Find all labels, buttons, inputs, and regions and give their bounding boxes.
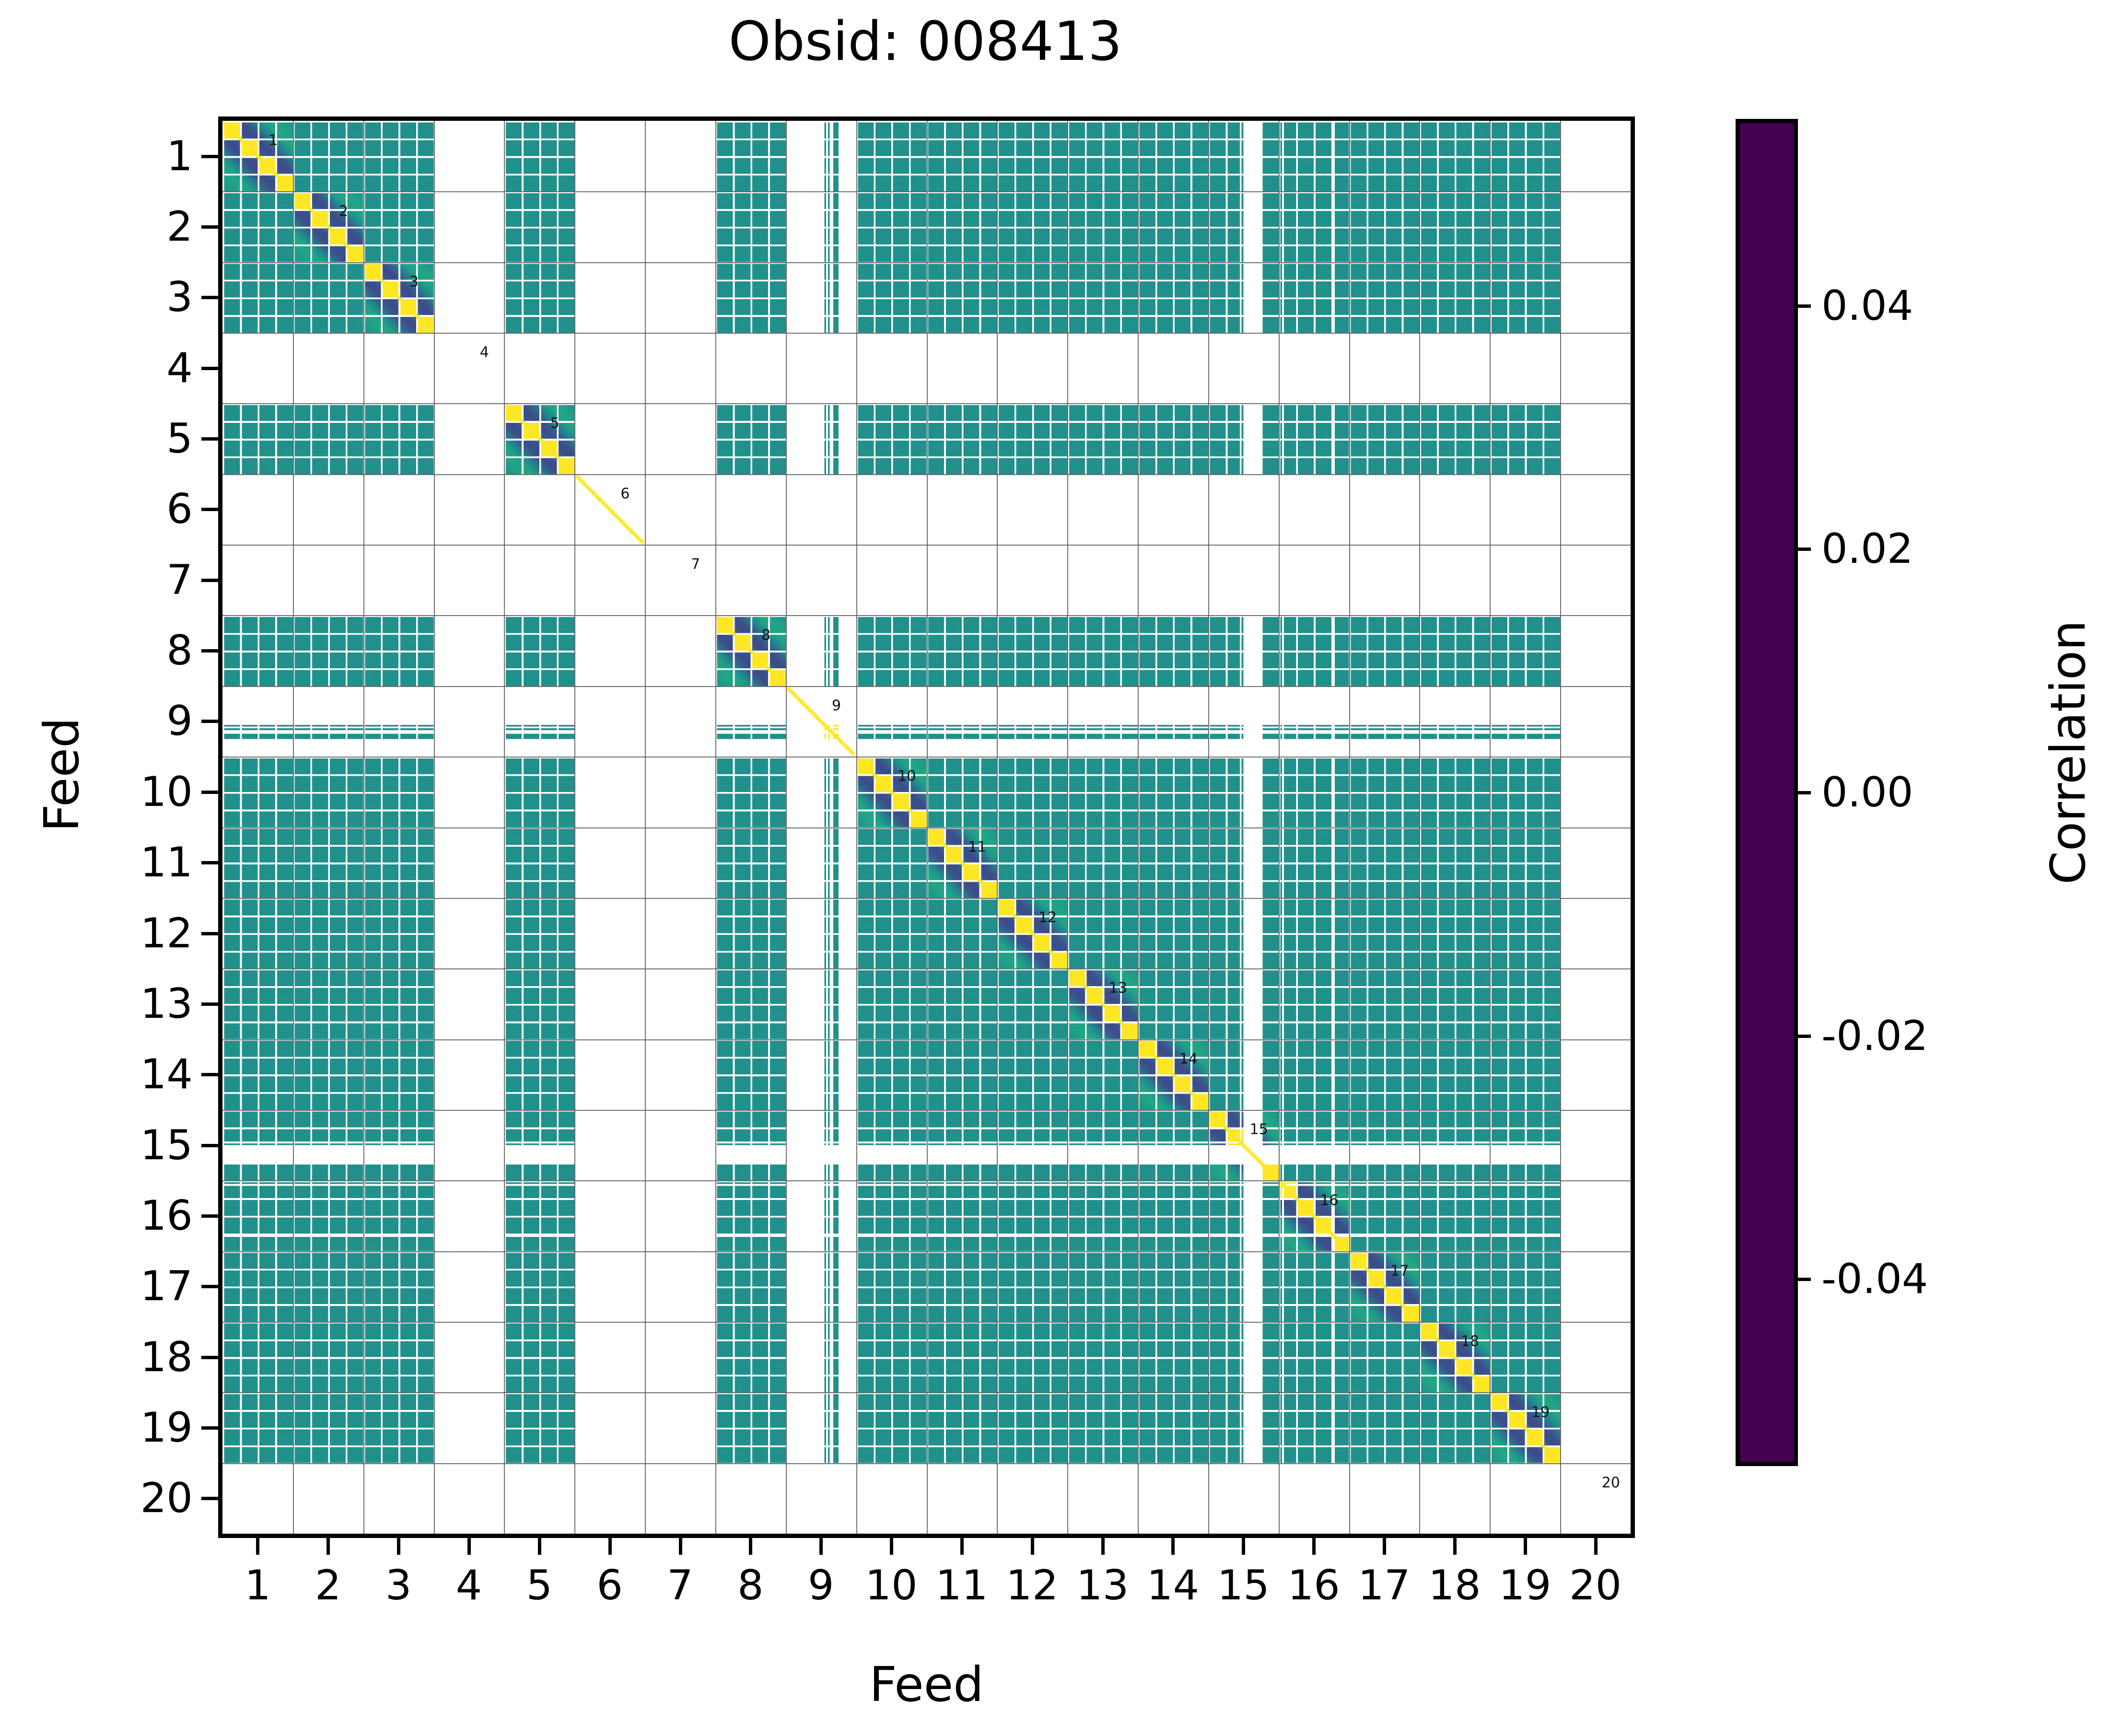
x-axis-tick — [397, 1534, 400, 1555]
colorbar-tick — [1794, 304, 1811, 308]
colorbar-label: Correlation — [2040, 620, 2096, 885]
y-axis-tick — [201, 296, 222, 299]
y-axis-tick-label: 20 — [140, 1474, 193, 1522]
colorbar-tick-label: -0.04 — [1821, 1255, 1928, 1303]
x-axis-tick-label: 7 — [667, 1561, 693, 1609]
x-axis-tick — [1524, 1534, 1527, 1555]
matrix-cell-label: 13 — [1109, 980, 1127, 997]
x-axis-tick-label: 5 — [526, 1561, 552, 1609]
colorbar-tick-label: 0.04 — [1821, 282, 1913, 330]
x-axis-tick — [467, 1534, 471, 1555]
y-axis-tick-label: 9 — [166, 697, 193, 745]
x-axis-tick — [538, 1534, 541, 1555]
figure-canvas: Obsid: 008413 12345678910111213141516171… — [0, 0, 2111, 1736]
colorbar-tick — [1794, 791, 1811, 794]
page-title: Obsid: 008413 — [0, 10, 1851, 74]
colorbar-gradient — [1740, 123, 1794, 1462]
y-axis-tick — [201, 155, 222, 158]
y-axis-tick — [201, 1002, 222, 1006]
matrix-cell-label: 9 — [832, 698, 841, 714]
x-axis-tick-label: 4 — [456, 1561, 482, 1609]
matrix-cell-label: 4 — [480, 344, 489, 361]
x-axis-tick — [1594, 1534, 1598, 1555]
x-axis-tick-label: 3 — [385, 1561, 412, 1609]
x-axis-tick-label: 1 — [245, 1561, 271, 1609]
x-axis-tick-label: 10 — [865, 1561, 917, 1609]
matrix-cell-label: 7 — [691, 556, 700, 573]
y-axis-tick — [201, 720, 222, 723]
y-axis-tick-label: 4 — [166, 344, 193, 392]
heatmap-axes: 1234567891011121314151617181920 11223344… — [218, 117, 1635, 1538]
y-axis-tick — [201, 437, 222, 441]
y-axis-tick — [201, 225, 222, 229]
matrix-cell-label: 15 — [1250, 1121, 1268, 1138]
x-axis-tick-label: 19 — [1499, 1561, 1551, 1609]
y-axis-tick-label: 3 — [166, 273, 193, 321]
colorbar-tick-label: 0.00 — [1821, 769, 1913, 816]
y-axis-tick — [201, 649, 222, 652]
colorbar: 0.040.020.00-0.02-0.04 — [1736, 119, 1798, 1466]
x-axis-tick-label: 15 — [1217, 1561, 1270, 1609]
y-axis-tick-label: 8 — [166, 627, 193, 675]
y-axis-tick-label: 1 — [166, 132, 193, 180]
x-axis-tick-label: 16 — [1287, 1561, 1340, 1609]
y-axis-tick — [201, 1356, 222, 1359]
gridline-vertical — [1490, 121, 1491, 1534]
matrix-cell-label: 14 — [1179, 1050, 1198, 1067]
matrix-cell-label: 17 — [1390, 1262, 1409, 1279]
y-axis-tick-label: 18 — [140, 1333, 193, 1381]
y-axis-label: Feed — [34, 717, 90, 832]
x-axis-tick-label: 13 — [1076, 1561, 1129, 1609]
x-axis-label: Feed — [218, 1656, 1635, 1713]
y-axis-tick — [201, 1073, 222, 1076]
matrix-cell-label: 1 — [268, 132, 278, 149]
x-axis-tick — [1383, 1534, 1386, 1555]
matrix-cell-label: 5 — [550, 415, 560, 431]
matrix-cell-label: 19 — [1531, 1404, 1550, 1421]
x-axis-tick-label: 8 — [737, 1561, 764, 1609]
x-axis-tick-label: 6 — [596, 1561, 623, 1609]
y-axis-tick-label: 7 — [166, 556, 193, 604]
matrix-cell-label: 10 — [898, 768, 916, 785]
y-axis-tick-label: 2 — [166, 203, 193, 251]
y-axis-tick — [201, 579, 222, 582]
y-axis-tick — [201, 1497, 222, 1500]
x-axis-tick-label: 14 — [1147, 1561, 1199, 1609]
x-axis-tick — [1312, 1534, 1316, 1555]
y-axis-tick — [201, 1285, 222, 1288]
x-axis-tick-label: 18 — [1428, 1561, 1481, 1609]
x-axis-tick — [1453, 1534, 1457, 1555]
colorbar-tick-label: -0.02 — [1821, 1012, 1928, 1060]
y-axis-tick-label: 16 — [140, 1192, 193, 1240]
y-axis-tick-label: 11 — [140, 839, 193, 886]
y-axis-tick-label: 6 — [166, 485, 193, 533]
x-axis-tick — [256, 1534, 259, 1555]
colorbar-tick-label: 0.02 — [1821, 525, 1913, 573]
gridline-horizontal — [222, 1322, 1631, 1323]
matrix-cell-label: 11 — [968, 839, 986, 855]
x-axis-tick — [819, 1534, 823, 1555]
colorbar-tick — [1794, 548, 1811, 551]
y-axis-tick — [201, 791, 222, 794]
x-axis-tick-label: 12 — [1006, 1561, 1058, 1609]
y-axis-tick-label: 14 — [140, 1050, 193, 1098]
x-axis-tick-label: 9 — [808, 1561, 834, 1609]
y-axis-tick — [201, 861, 222, 864]
colorbar-tick — [1794, 1278, 1811, 1281]
y-axis-tick-label: 12 — [140, 909, 193, 957]
matrix-cell-label: 8 — [761, 627, 770, 643]
y-axis-tick-label: 19 — [140, 1404, 193, 1452]
gridline-horizontal — [222, 1392, 1631, 1393]
y-axis-tick — [201, 932, 222, 935]
colorbar-tick — [1794, 1035, 1811, 1038]
x-axis-tick — [1101, 1534, 1105, 1555]
x-axis-tick-label: 20 — [1569, 1561, 1621, 1609]
gridline-horizontal — [222, 1463, 1631, 1464]
x-axis-tick — [890, 1534, 893, 1555]
matrix-cell-label: 12 — [1038, 909, 1057, 926]
x-axis-tick — [608, 1534, 612, 1555]
y-axis-tick-label: 10 — [140, 768, 193, 816]
gridline-vertical — [1560, 121, 1561, 1534]
y-axis-tick — [201, 1144, 222, 1147]
matrix-cell-label: 16 — [1320, 1192, 1338, 1209]
matrix-cell-label: 6 — [620, 486, 630, 502]
x-axis-tick — [679, 1534, 682, 1555]
x-axis-tick — [749, 1534, 752, 1555]
x-axis-tick — [1242, 1534, 1245, 1555]
y-axis-tick — [201, 367, 222, 370]
y-axis-tick-label: 13 — [140, 980, 193, 1028]
y-axis-tick-label: 15 — [140, 1121, 193, 1169]
x-axis-tick — [1171, 1534, 1175, 1555]
y-axis-tick — [201, 508, 222, 511]
matrix-cell-label: 20 — [1602, 1474, 1620, 1491]
x-axis-tick — [327, 1534, 330, 1555]
x-axis-tick-label: 2 — [315, 1561, 341, 1609]
y-axis-tick — [201, 1426, 222, 1430]
matrix-cell-label: 18 — [1461, 1333, 1479, 1350]
y-axis-tick — [201, 1214, 222, 1218]
heatmap-plot-area: 1234567891011121314151617181920 — [222, 121, 1631, 1534]
x-axis-tick — [1031, 1534, 1034, 1555]
x-axis-tick-label: 17 — [1358, 1561, 1410, 1609]
matrix-cell-label: 3 — [409, 273, 419, 290]
y-axis-tick-label: 17 — [140, 1262, 193, 1310]
matrix-cell-label: 2 — [339, 203, 348, 220]
y-axis-tick-label: 5 — [166, 415, 193, 463]
x-axis-tick-label: 11 — [935, 1561, 988, 1609]
x-axis-tick — [960, 1534, 964, 1555]
